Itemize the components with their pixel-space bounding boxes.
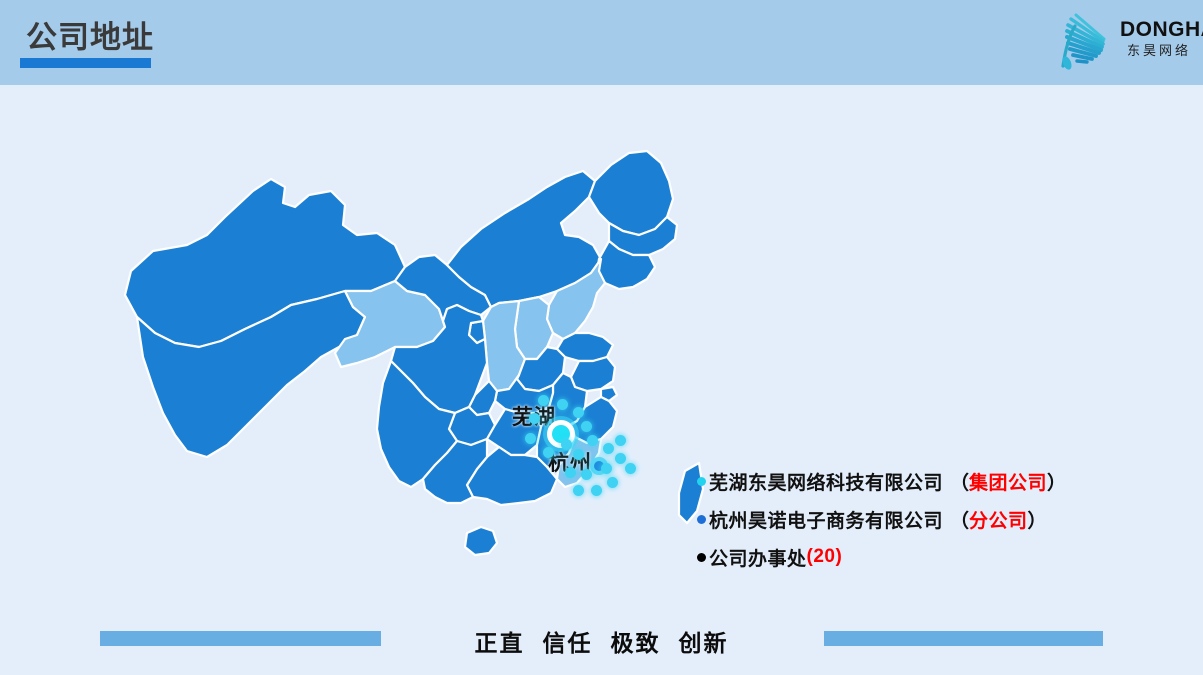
map-marker-office[interactable] bbox=[607, 477, 618, 488]
legend-bullet-black-icon bbox=[697, 553, 706, 562]
legend-open-paren: （ bbox=[950, 468, 969, 495]
map-marker-office[interactable] bbox=[601, 463, 612, 474]
map-legend: 芜湖东昊网络科技有限公司 （ 集团公司 ） 杭州昊诺电子商务有限公司 （ 分公司… bbox=[697, 462, 1177, 576]
map-marker-office[interactable] bbox=[587, 435, 598, 446]
slogan-word-3: 极致 bbox=[611, 630, 661, 656]
map-marker-office[interactable] bbox=[529, 413, 540, 424]
legend-office-count: (20) bbox=[807, 546, 843, 568]
map-marker-office[interactable] bbox=[561, 439, 572, 450]
map-marker-office[interactable] bbox=[625, 463, 636, 474]
logo-subtitle-text: 东昊网络 bbox=[1120, 42, 1196, 60]
map-marker-office[interactable] bbox=[603, 443, 614, 454]
legend-company-name: 杭州昊诺电子商务有限公司 bbox=[709, 506, 943, 533]
donghao-fan-logo-icon bbox=[1054, 6, 1126, 76]
company-logo: DONGHAO 东昊网络 bbox=[1010, 4, 1195, 78]
legend-company-name: 公司办事处 bbox=[709, 544, 807, 571]
map-marker-office[interactable] bbox=[543, 447, 554, 458]
map-marker-office[interactable] bbox=[557, 399, 568, 410]
china-map-svg bbox=[95, 95, 715, 605]
legend-company-name: 芜湖东昊网络科技有限公司 bbox=[709, 468, 943, 495]
legend-bullet-blue-icon bbox=[697, 515, 706, 524]
map-marker-office[interactable] bbox=[573, 407, 584, 418]
map-marker-office[interactable] bbox=[581, 421, 592, 432]
slogan-word-1: 正直 bbox=[475, 630, 525, 656]
slogan-word-4: 创新 bbox=[679, 630, 729, 656]
legend-close-paren: ） bbox=[1028, 506, 1047, 533]
province-hainan bbox=[465, 527, 497, 555]
title-underline-bar bbox=[20, 58, 151, 68]
china-map[interactable]: 芜湖 杭州 bbox=[95, 95, 715, 605]
map-marker-office[interactable] bbox=[615, 453, 626, 464]
map-marker-office[interactable] bbox=[538, 395, 549, 406]
map-marker-office[interactable] bbox=[565, 467, 576, 478]
legend-company-tag: 集团公司 bbox=[969, 468, 1047, 495]
legend-bullet-cyan-icon bbox=[697, 477, 706, 486]
legend-open-paren: （ bbox=[950, 506, 969, 533]
slide-canvas: 公司地址 bbox=[0, 0, 1203, 675]
legend-close-paren: ） bbox=[1047, 468, 1066, 495]
logo-wordmark: DONGHAO 东昊网络 bbox=[1120, 18, 1196, 60]
footer-slogan: 正直信任极致创新 bbox=[0, 624, 1203, 658]
slogan-word-2: 信任 bbox=[543, 630, 593, 656]
map-marker-office[interactable] bbox=[615, 435, 626, 446]
slide-header: 公司地址 bbox=[0, 0, 1203, 85]
page-title: 公司地址 bbox=[26, 19, 154, 56]
map-marker-office[interactable] bbox=[573, 485, 584, 496]
map-marker-office[interactable] bbox=[581, 469, 592, 480]
legend-company-tag: 分公司 bbox=[969, 506, 1028, 533]
map-marker-office[interactable] bbox=[573, 449, 584, 460]
legend-item-headquarters[interactable]: 芜湖东昊网络科技有限公司 （ 集团公司 ） bbox=[697, 462, 1177, 500]
legend-item-offices[interactable]: 公司办事处 (20) bbox=[697, 538, 1177, 576]
legend-item-branch[interactable]: 杭州昊诺电子商务有限公司 （ 分公司 ） bbox=[697, 500, 1177, 538]
logo-name-text: DONGHAO bbox=[1120, 18, 1196, 42]
province-jiangsu bbox=[571, 357, 615, 391]
map-marker-office[interactable] bbox=[591, 485, 602, 496]
map-marker-office[interactable] bbox=[525, 433, 536, 444]
